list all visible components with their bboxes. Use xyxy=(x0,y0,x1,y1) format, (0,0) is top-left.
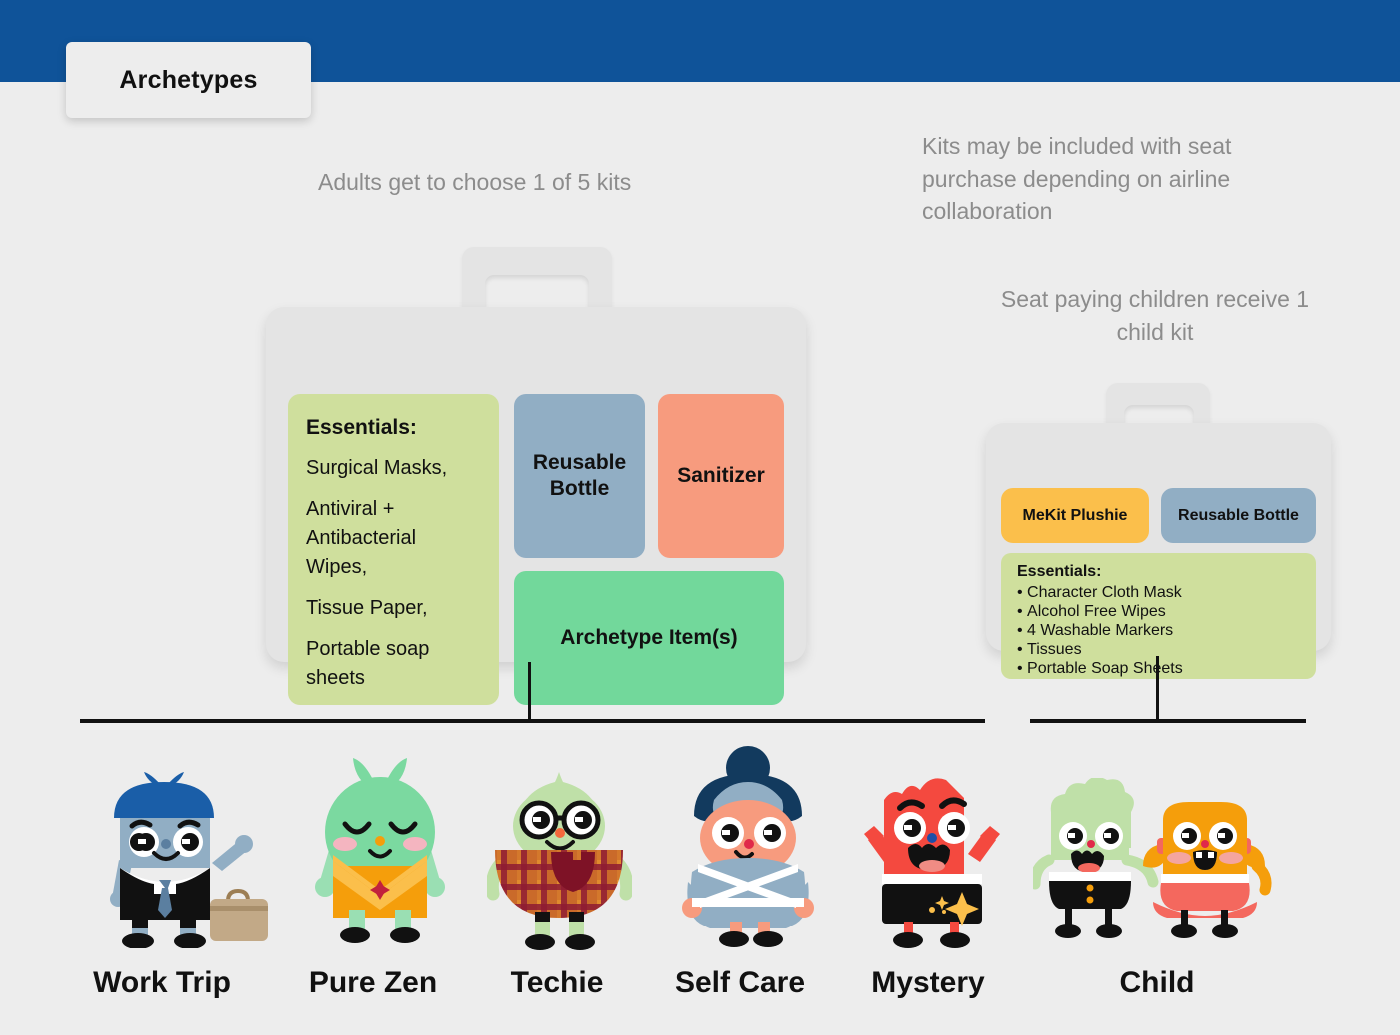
child-connector-vertical xyxy=(1156,656,1159,721)
child-essentials-item: 4 Washable Markers xyxy=(1017,621,1316,640)
case-body: Essentials: Surgical Masks, Antiviral + … xyxy=(266,307,806,662)
child-mekit-plushie-chip: MeKit Plushie xyxy=(1001,488,1149,543)
adult-kit-case: Essentials: Surgical Masks, Antiviral + … xyxy=(266,242,806,662)
note-adults-choice: Adults get to choose 1 of 5 kits xyxy=(318,166,738,199)
adult-essentials-item: Surgical Masks, xyxy=(306,454,481,483)
techie-character xyxy=(487,770,632,950)
adult-essentials-item: Antiviral + Antibacterial Wipes, xyxy=(306,495,481,582)
infographic-canvas: Archetypes Adults get to choose 1 of 5 k… xyxy=(0,0,1400,1035)
archetype-label-mystery: Mystery xyxy=(871,966,984,1000)
child-connector-horizontal xyxy=(1030,719,1306,723)
child-essentials-item: Tissues xyxy=(1017,640,1316,659)
adult-connector-vertical xyxy=(528,662,531,721)
adult-essentials-chip: Essentials: Surgical Masks, Antiviral + … xyxy=(288,394,499,705)
work-trip-character xyxy=(92,768,277,948)
child-kit-case: MeKit Plushie Reusable Bottle Essentials… xyxy=(986,378,1331,658)
child-essentials-list: Character Cloth Mask Alcohol Free Wipes … xyxy=(1017,583,1316,678)
child-essentials-item: Portable Soap Sheets xyxy=(1017,659,1316,678)
child-reusable-bottle-chip: Reusable Bottle xyxy=(1161,488,1316,543)
page-title: Archetypes xyxy=(119,66,257,95)
child-essentials-item: Character Cloth Mask xyxy=(1017,583,1316,602)
child-characters xyxy=(1033,778,1283,948)
adult-essentials-item: Tissue Paper, xyxy=(306,594,481,623)
adult-sanitizer-chip: Sanitizer xyxy=(658,394,784,558)
child-essentials-item: Alcohol Free Wipes xyxy=(1017,602,1316,621)
archetype-label-self-care: Self Care xyxy=(675,966,805,1000)
adult-connector-horizontal xyxy=(80,719,985,723)
archetype-label-work-trip: Work Trip xyxy=(93,966,231,1000)
page-title-card: Archetypes xyxy=(66,42,311,118)
adult-essentials-title: Essentials: xyxy=(306,416,481,440)
note-child-kit: Seat paying children receive 1 child kit xyxy=(1000,283,1310,348)
self-care-character xyxy=(678,746,818,948)
note-airline-collaboration: Kits may be included with seat purchase … xyxy=(922,130,1322,228)
archetype-label-pure-zen: Pure Zen xyxy=(309,966,437,1000)
case-body: MeKit Plushie Reusable Bottle Essentials… xyxy=(986,423,1331,651)
mystery-character xyxy=(862,762,1002,948)
archetype-label-techie: Techie xyxy=(511,966,604,1000)
child-essentials-title: Essentials: xyxy=(1017,563,1316,581)
archetype-label-child: Child xyxy=(1120,966,1195,1000)
pure-zen-character xyxy=(305,758,455,948)
adult-essentials-item: Portable soap sheets xyxy=(306,635,481,693)
adult-reusable-bottle-chip: Reusable Bottle xyxy=(514,394,645,558)
adult-archetype-item-chip: Archetype Item(s) xyxy=(514,571,784,705)
